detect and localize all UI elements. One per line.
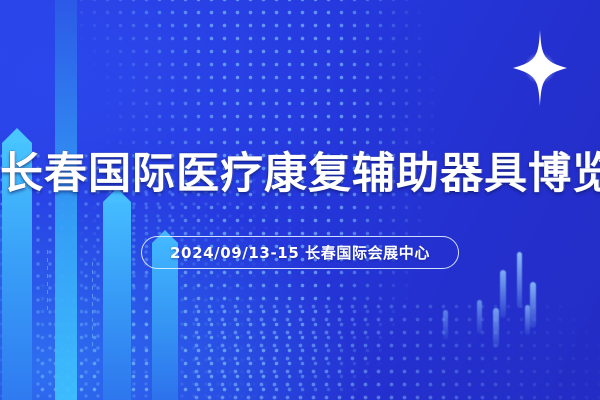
light-streak (517, 252, 522, 308)
banner-subtitle-text: 2024/09/13-15 长春国际会展中心 (170, 242, 430, 263)
banner-title: 长春国际医疗康复辅助器具博览会 (0, 143, 600, 205)
light-streak (500, 270, 506, 318)
expo-banner: 长春国际医疗康复辅助器具博览会 2024/09/13-15 长春国际会展中心 (0, 0, 600, 400)
arrow-bar-tip-icon (2, 128, 32, 143)
dashed-guide-line (47, 250, 48, 310)
arrow-bar (103, 188, 131, 400)
dot-pattern-bottom-right-icon (190, 300, 600, 400)
light-streak (443, 310, 448, 340)
sparkle-star-icon (505, 28, 575, 108)
light-streak (530, 282, 536, 328)
arrow-bar-shaft (103, 202, 131, 400)
dashed-guide-line (92, 262, 93, 348)
light-streak (525, 305, 530, 335)
banner-subtitle-pill: 2024/09/13-15 长春国际会展中心 (141, 236, 459, 269)
light-streak (477, 300, 482, 334)
light-streak (493, 308, 499, 348)
